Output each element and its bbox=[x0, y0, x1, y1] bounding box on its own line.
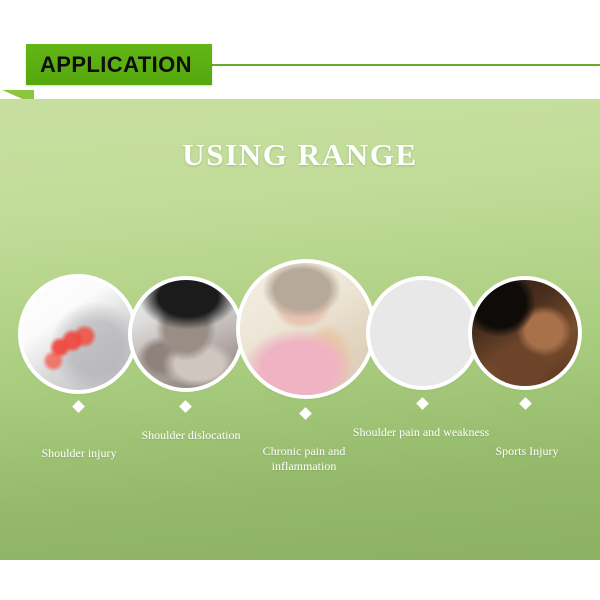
photo bbox=[472, 280, 578, 386]
item-caption-chronic-pain-inflammation: Chronic pain and inflammation bbox=[241, 444, 367, 474]
item-image-sports-injury bbox=[472, 280, 578, 386]
application-page: APPLICATION USING RANGE Shoulder injury … bbox=[0, 0, 600, 600]
section-header-banner: APPLICATION bbox=[0, 44, 600, 88]
photo bbox=[132, 280, 240, 388]
header-rule bbox=[210, 64, 600, 66]
item-caption-shoulder-injury: Shoulder injury bbox=[14, 446, 144, 461]
application-badge: APPLICATION bbox=[26, 44, 212, 85]
diamond-bullet-icon bbox=[416, 397, 429, 410]
item-image-chronic-pain-inflammation bbox=[240, 263, 372, 395]
item-image-shoulder-dislocation bbox=[132, 280, 240, 388]
application-badge-label: APPLICATION bbox=[26, 44, 212, 85]
page-title: USING RANGE bbox=[0, 137, 600, 173]
diamond-bullet-icon bbox=[179, 400, 192, 413]
diamond-bullet-icon bbox=[519, 397, 532, 410]
item-caption-shoulder-dislocation: Shoulder dislocation bbox=[121, 428, 261, 443]
diamond-bullet-icon bbox=[72, 400, 85, 413]
photo bbox=[22, 278, 134, 390]
photo bbox=[240, 263, 372, 395]
photo bbox=[370, 280, 476, 386]
item-image-shoulder-injury bbox=[22, 278, 134, 390]
using-range-panel: USING RANGE Shoulder injury Shoulder dis… bbox=[0, 99, 600, 560]
item-caption-sports-injury: Sports Injury bbox=[466, 444, 588, 459]
item-image-shoulder-pain-weakness bbox=[370, 280, 476, 386]
diamond-bullet-icon bbox=[299, 407, 312, 420]
item-caption-shoulder-pain-weakness: Shoulder pain and weakness bbox=[338, 425, 504, 440]
